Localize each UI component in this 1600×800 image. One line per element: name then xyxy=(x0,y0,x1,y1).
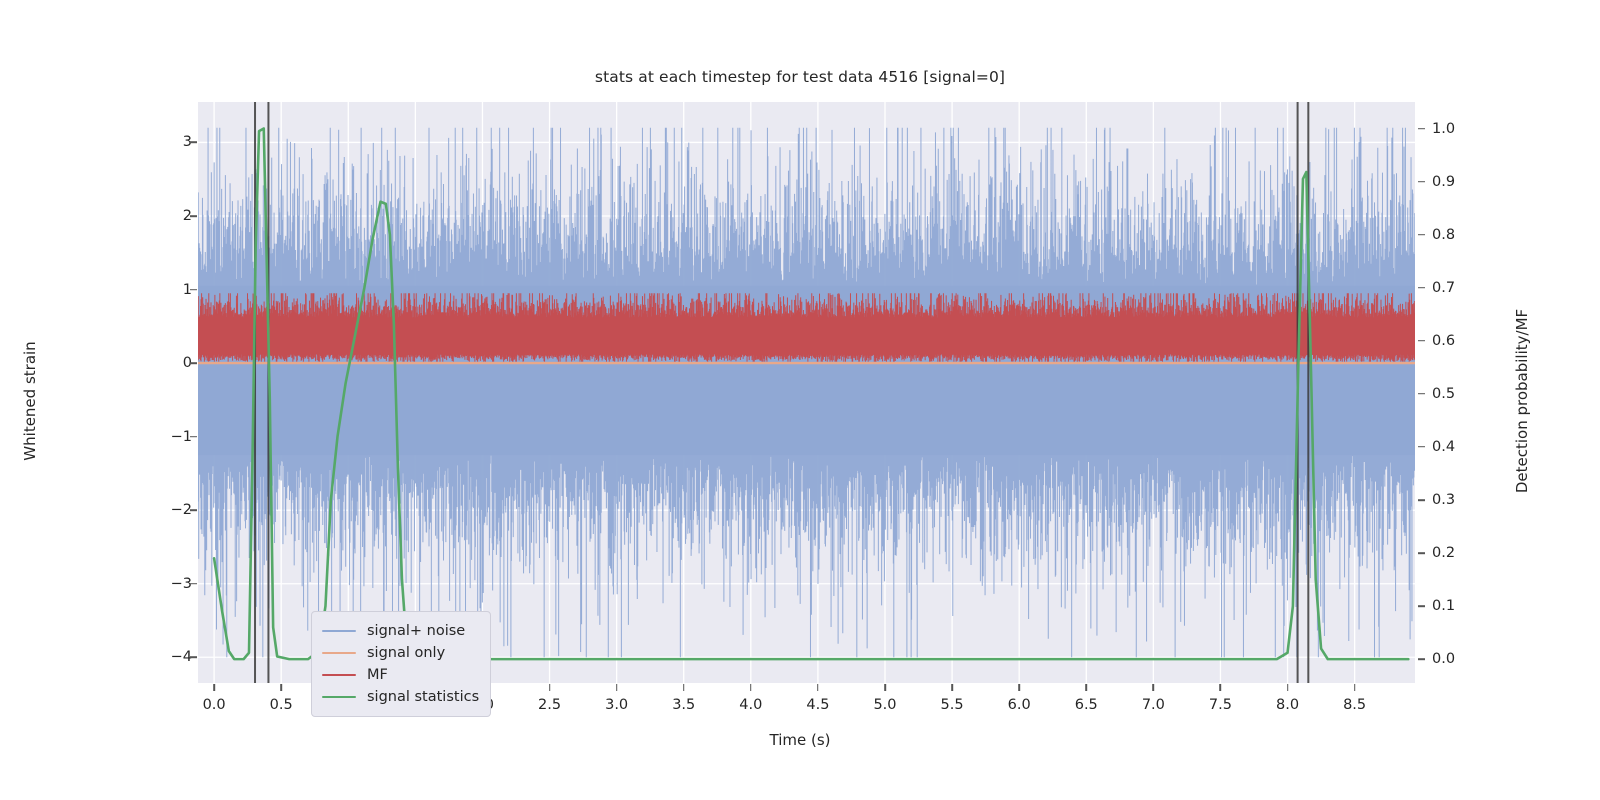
x-tick-mark xyxy=(1287,684,1289,691)
x-tick-label: 8.0 xyxy=(1276,697,1299,713)
x-tick-mark xyxy=(817,684,819,691)
legend-item[interactable]: signal only xyxy=(322,642,480,664)
y-tick-right-label: 0.9 xyxy=(1432,174,1455,190)
y-tick-right-mark xyxy=(1418,393,1425,395)
x-tick-label: 3.5 xyxy=(672,697,695,713)
y-tick-left-mark xyxy=(190,436,197,438)
x-tick-label: 4.5 xyxy=(806,697,829,713)
legend-item-label: signal only xyxy=(367,645,445,661)
x-tick-label: 5.0 xyxy=(873,697,896,713)
y-tick-right-mark xyxy=(1418,340,1425,342)
legend-swatch-icon xyxy=(322,674,356,677)
y-tick-right-label: 0.5 xyxy=(1432,386,1455,402)
y-tick-right-label: 0.6 xyxy=(1432,333,1455,349)
x-tick-label: 4.0 xyxy=(739,697,762,713)
x-tick-mark xyxy=(213,684,215,691)
y-tick-right-mark xyxy=(1418,287,1425,289)
y-axis-left-label: Whitened strain xyxy=(21,251,39,551)
y-tick-left-label: −2 xyxy=(72,502,192,518)
figure-root: stats at each timestep for test data 451… xyxy=(0,0,1600,800)
x-tick-label: 6.5 xyxy=(1075,697,1098,713)
y-tick-left-mark xyxy=(190,656,197,658)
x-tick-label: 3.0 xyxy=(605,697,628,713)
x-tick-label: 8.5 xyxy=(1343,697,1366,713)
y-tick-right-mark xyxy=(1418,446,1425,448)
x-tick-mark xyxy=(549,684,551,691)
y-tick-right-label: 0.3 xyxy=(1432,492,1455,508)
x-tick-label: 7.0 xyxy=(1142,697,1165,713)
y-tick-right-mark xyxy=(1418,499,1425,501)
y-tick-left-label: 3 xyxy=(72,134,192,150)
x-tick-label: 0.5 xyxy=(270,697,293,713)
legend-item-label: signal statistics xyxy=(367,689,479,705)
y-tick-right-label: 0.4 xyxy=(1432,439,1455,455)
y-tick-right-label: 0.2 xyxy=(1432,545,1455,561)
y-tick-left-mark xyxy=(190,362,197,364)
y-tick-left-label: −1 xyxy=(72,429,192,445)
x-tick-mark xyxy=(1354,684,1356,691)
y-tick-right-label: 0.8 xyxy=(1432,227,1455,243)
x-tick-mark xyxy=(1220,684,1222,691)
x-tick-mark xyxy=(1153,684,1155,691)
legend-swatch-icon xyxy=(322,652,356,655)
y-tick-left-mark xyxy=(190,583,197,585)
legend-item[interactable]: signal statistics xyxy=(322,686,480,708)
x-tick-label: 6.0 xyxy=(1008,697,1031,713)
plot-canvas xyxy=(198,102,1415,683)
x-tick-mark xyxy=(750,684,752,691)
x-tick-label: 0.0 xyxy=(203,697,226,713)
y-tick-right-label: 0.7 xyxy=(1432,280,1455,296)
legend-item-label: MF xyxy=(367,667,388,683)
y-tick-right-label: 1.0 xyxy=(1432,121,1455,137)
y-tick-left-mark xyxy=(190,509,197,511)
y-tick-right-mark xyxy=(1418,128,1425,130)
x-tick-mark xyxy=(884,684,886,691)
x-tick-label: 5.5 xyxy=(941,697,964,713)
y-tick-left-mark xyxy=(190,142,197,144)
x-tick-mark xyxy=(1018,684,1020,691)
x-tick-label: 7.5 xyxy=(1209,697,1232,713)
legend-item-label: signal+ noise xyxy=(367,623,465,639)
y-tick-left-label: 0 xyxy=(72,355,192,371)
y-tick-left-label: 1 xyxy=(72,282,192,298)
y-tick-right-mark xyxy=(1418,181,1425,183)
x-tick-mark xyxy=(683,684,685,691)
y-tick-left-label: −3 xyxy=(72,576,192,592)
y-tick-right-mark xyxy=(1418,658,1425,660)
x-tick-mark xyxy=(616,684,618,691)
chart-title: stats at each timestep for test data 451… xyxy=(0,68,1600,86)
y-tick-left-label: −4 xyxy=(72,649,192,665)
legend-item[interactable]: MF xyxy=(322,664,480,686)
x-tick-label: 2.5 xyxy=(538,697,561,713)
y-axis-right-label: Detection probability/MF xyxy=(1513,251,1531,551)
x-tick-mark xyxy=(280,684,282,691)
legend-item[interactable]: signal+ noise xyxy=(322,620,480,642)
y-tick-right-label: 0.0 xyxy=(1432,651,1455,667)
x-tick-mark xyxy=(1085,684,1087,691)
y-tick-right-label: 0.1 xyxy=(1432,598,1455,614)
plot-area xyxy=(198,102,1415,683)
y-tick-right-mark xyxy=(1418,552,1425,554)
y-tick-right-mark xyxy=(1418,234,1425,236)
x-axis-label: Time (s) xyxy=(0,731,1600,749)
x-tick-mark xyxy=(951,684,953,691)
y-tick-right-mark xyxy=(1418,605,1425,607)
y-tick-left-label: 2 xyxy=(72,208,192,224)
legend-swatch-icon xyxy=(322,630,356,633)
y-tick-left-mark xyxy=(190,289,197,291)
y-tick-left-mark xyxy=(190,215,197,217)
legend: signal+ noisesignal onlyMFsignal statist… xyxy=(311,611,491,717)
legend-swatch-icon xyxy=(322,696,356,699)
